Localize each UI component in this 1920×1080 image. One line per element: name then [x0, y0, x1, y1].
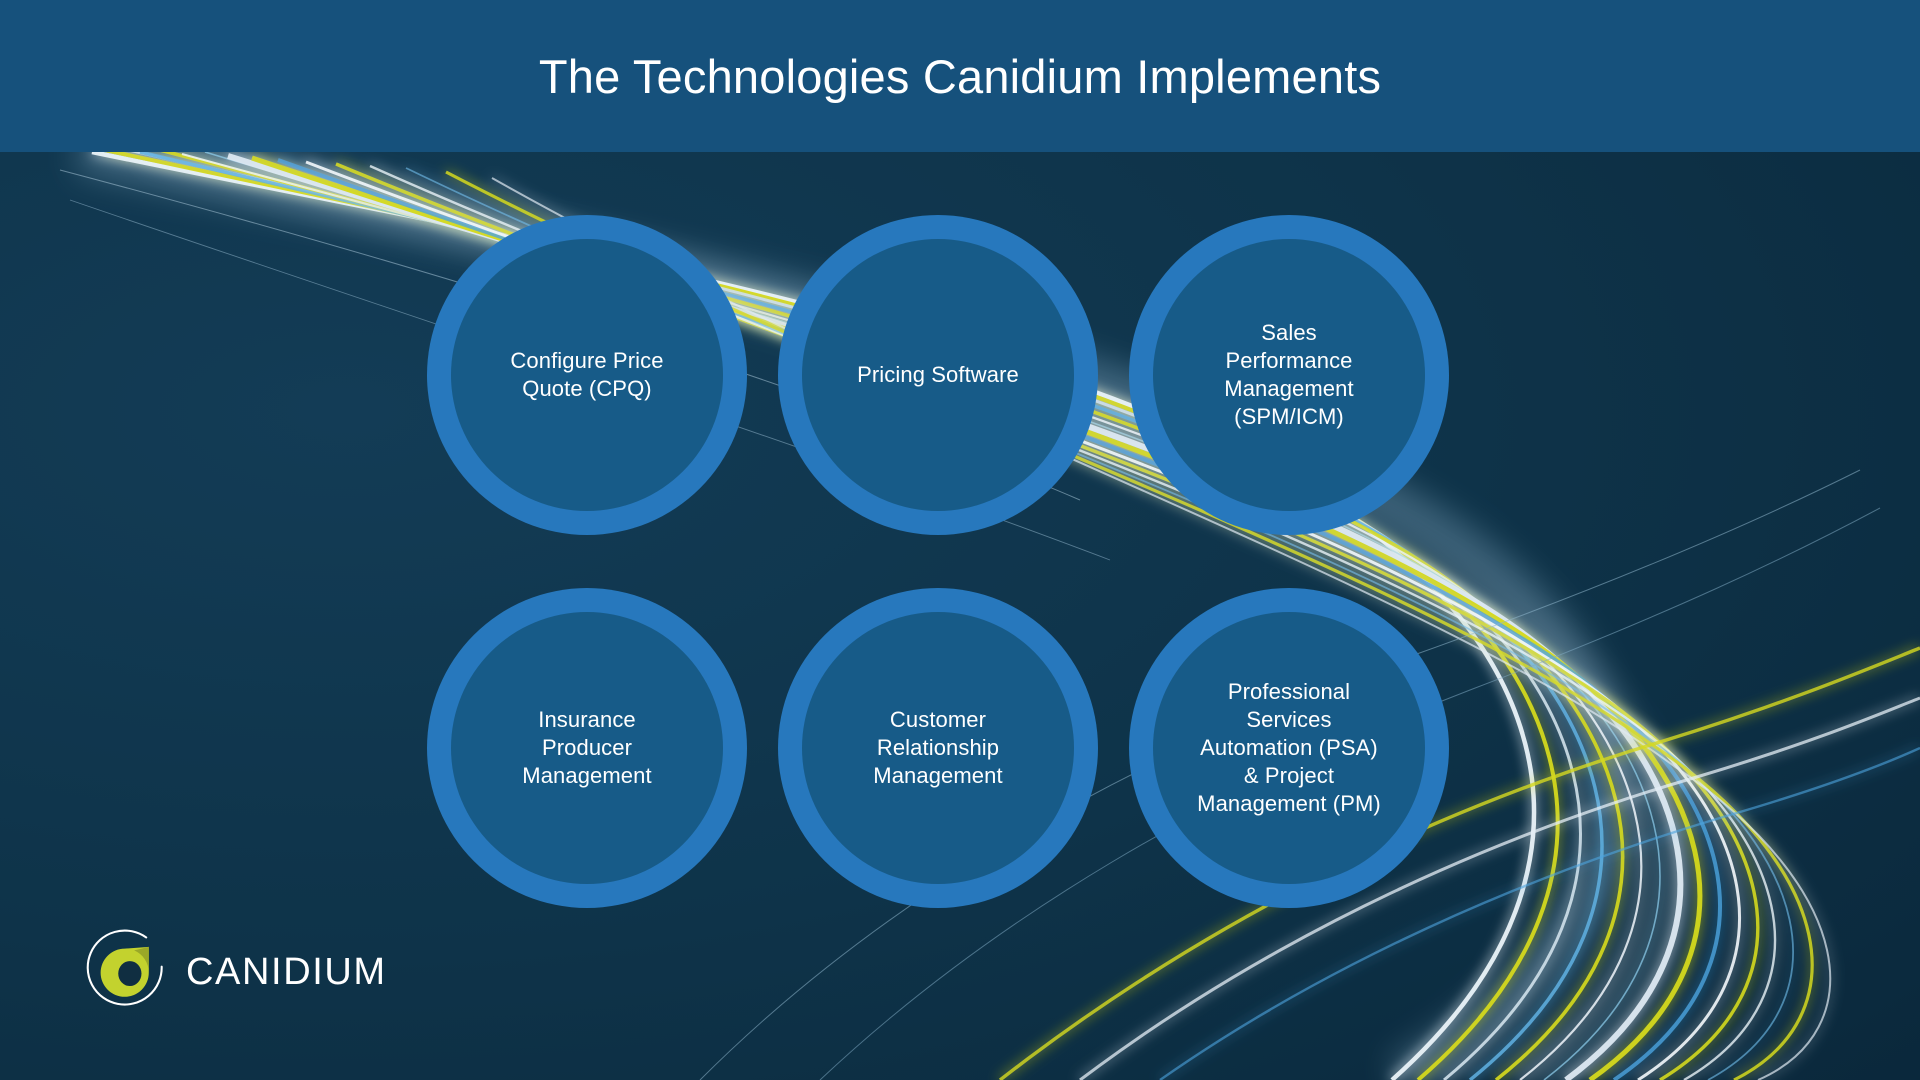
tech-circle-label: Configure Price Quote (CPQ)	[462, 347, 712, 403]
tech-circle-insurance-producer-management[interactable]: Insurance Producer Management	[427, 588, 747, 908]
tech-circle-psa-pm[interactable]: Professional Services Automation (PSA) &…	[1129, 588, 1449, 908]
technology-circle-grid: Configure Price Quote (CPQ) Pricing Soft…	[0, 0, 1920, 1080]
tech-circle-label: Sales Performance Management (SPM/ICM)	[1164, 319, 1414, 431]
canidium-droplet-icon	[86, 928, 172, 1014]
tech-circle-inner: Professional Services Automation (PSA) &…	[1153, 612, 1425, 884]
tech-circle-inner: Customer Relationship Management	[802, 612, 1074, 884]
page-title: The Technologies Canidium Implements	[0, 0, 1920, 152]
tech-circle-crm[interactable]: Customer Relationship Management	[778, 588, 1098, 908]
canidium-logo: CANIDIUM	[86, 925, 376, 1017]
tech-circle-spm[interactable]: Sales Performance Management (SPM/ICM)	[1129, 215, 1449, 535]
tech-circle-inner: Pricing Software	[802, 239, 1074, 511]
tech-circle-label: Pricing Software	[813, 361, 1063, 389]
presentation-slide: The Technologies Canidium Implements Con…	[0, 0, 1920, 1080]
tech-circle-inner: Sales Performance Management (SPM/ICM)	[1153, 239, 1425, 511]
tech-circle-label: Professional Services Automation (PSA) &…	[1164, 678, 1414, 818]
tech-circle-inner: Insurance Producer Management	[451, 612, 723, 884]
tech-circle-label: Customer Relationship Management	[813, 706, 1063, 790]
tech-circle-cpq[interactable]: Configure Price Quote (CPQ)	[427, 215, 747, 535]
canidium-wordmark: CANIDIUM	[186, 953, 387, 991]
tech-circle-label: Insurance Producer Management	[462, 706, 712, 790]
tech-circle-inner: Configure Price Quote (CPQ)	[451, 239, 723, 511]
tech-circle-pricing[interactable]: Pricing Software	[778, 215, 1098, 535]
